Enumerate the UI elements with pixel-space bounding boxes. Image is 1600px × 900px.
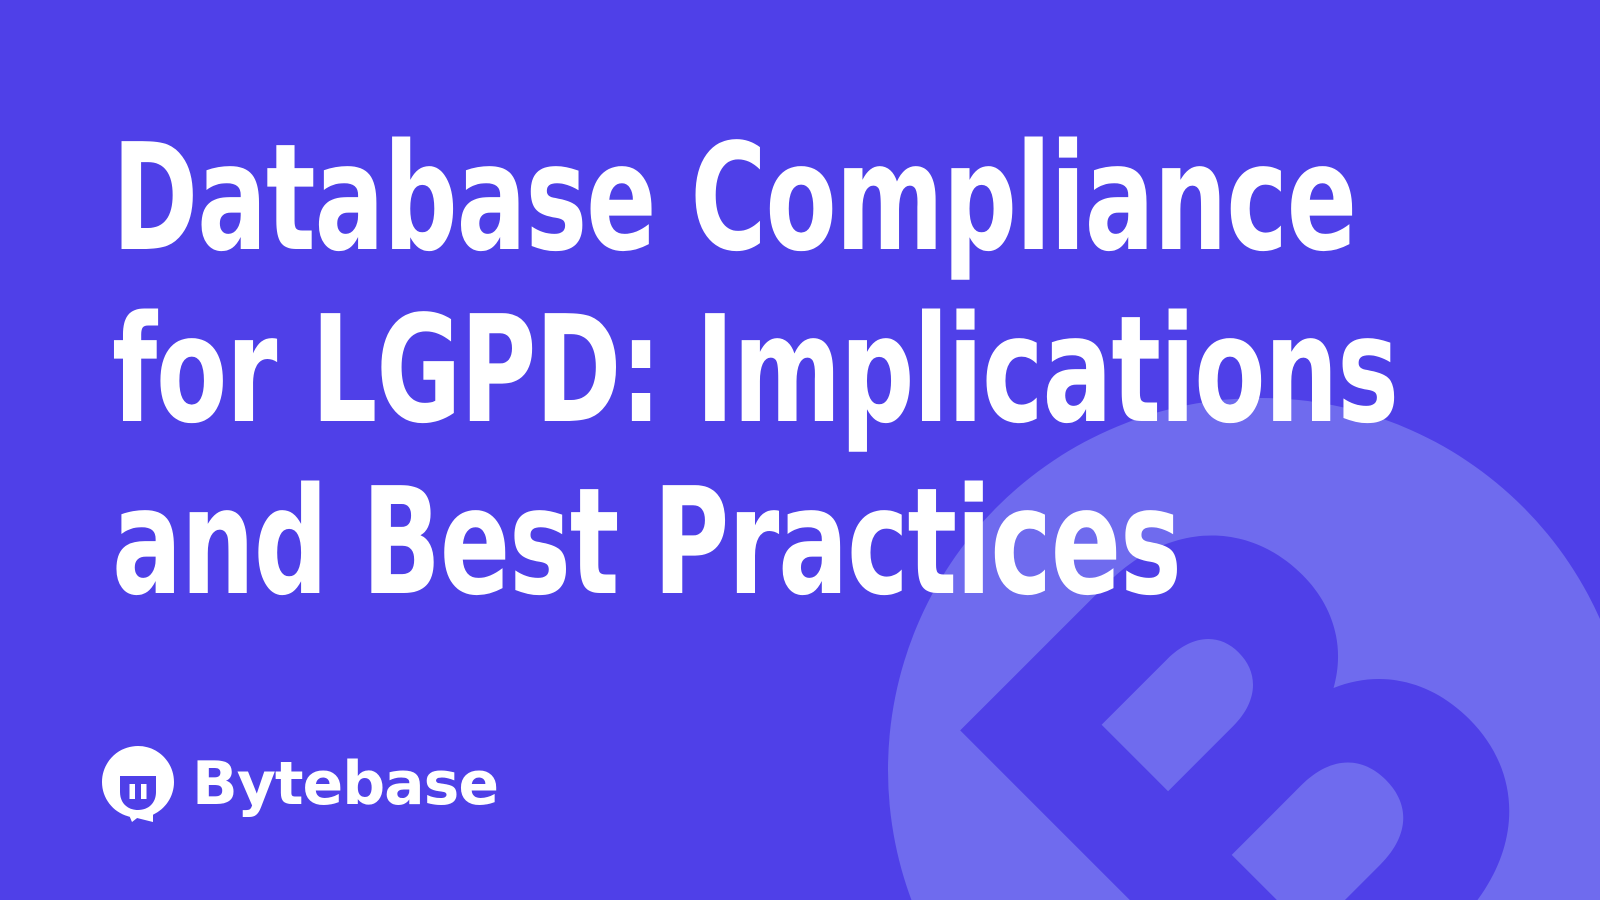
page-title: Database Compliance for LGPD: Implicatio… — [112, 112, 1403, 628]
brand-lockup: Bytebase — [102, 746, 498, 822]
cover-title-block: Database Compliance for LGPD: Implicatio… — [112, 112, 1402, 628]
brand-name: Bytebase — [192, 754, 498, 814]
bytebase-logo-icon — [102, 746, 174, 822]
blog-cover-card: Database Compliance for LGPD: Implicatio… — [0, 0, 1600, 900]
